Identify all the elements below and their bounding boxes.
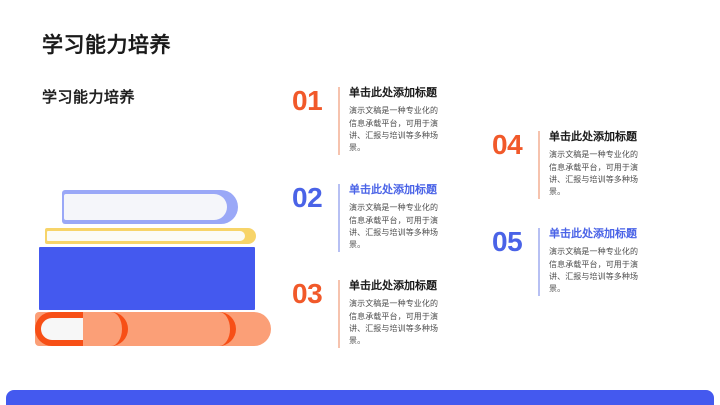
block-title-04: 单击此处添加标题 — [549, 131, 642, 144]
block-title-05: 单击此处添加标题 — [549, 228, 642, 241]
block-body-05: 演示文稿是一种专业化的信息承载平台，可用于演讲、汇报与培训等多种场景。 — [549, 246, 642, 296]
block-text-03: 单击此处添加标题 演示文稿是一种专业化的信息承载平台，可用于演讲、汇报与培训等多… — [349, 280, 442, 348]
block-divider-03 — [338, 280, 340, 348]
block-title-03: 单击此处添加标题 — [349, 280, 442, 293]
block-body-03: 演示文稿是一种专业化的信息承载平台，可用于演讲、汇报与培训等多种场景。 — [349, 298, 442, 348]
block-text-04: 单击此处添加标题 演示文稿是一种专业化的信息承载平台，可用于演讲、汇报与培训等多… — [549, 131, 642, 199]
block-number-04: 04 — [492, 131, 538, 159]
yellow-book-pages-icon — [47, 231, 245, 241]
block-body-01: 演示文稿是一种专业化的信息承载平台，可用于演讲、汇报与培训等多种场景。 — [349, 105, 442, 155]
block-number-02: 02 — [292, 184, 338, 212]
content-block-03[interactable]: 03 单击此处添加标题 演示文稿是一种专业化的信息承载平台，可用于演讲、汇报与培… — [292, 280, 442, 348]
block-text-02: 单击此处添加标题 演示文稿是一种专业化的信息承载平台，可用于演讲、汇报与培训等多… — [349, 184, 442, 252]
block-number-03: 03 — [292, 280, 338, 308]
block-divider-05 — [538, 228, 540, 296]
block-divider-02 — [338, 184, 340, 252]
content-block-05[interactable]: 05 单击此处添加标题 演示文稿是一种专业化的信息承载平台，可用于演讲、汇报与培… — [492, 228, 642, 296]
block-number-01: 01 — [292, 87, 338, 115]
page-title: 学习能力培养 — [42, 29, 171, 59]
bottom-accent-bar — [6, 390, 714, 405]
block-divider-04 — [538, 131, 540, 199]
page-subtitle: 学习能力培养 — [42, 86, 135, 107]
block-body-04: 演示文稿是一种专业化的信息承载平台，可用于演讲、汇报与培训等多种场景。 — [549, 149, 642, 199]
block-text-05: 单击此处添加标题 演示文稿是一种专业化的信息承载平台，可用于演讲、汇报与培训等多… — [549, 228, 642, 296]
block-number-05: 05 — [492, 228, 538, 256]
book-stack-illustration — [26, 186, 280, 354]
content-block-02[interactable]: 02 单击此处添加标题 演示文稿是一种专业化的信息承载平台，可用于演讲、汇报与培… — [292, 184, 442, 252]
presentation-slide: 学习能力培养 学习能力培养 01 单击此处添加标题 演示文稿是一种专业化的信息承… — [0, 0, 720, 405]
content-block-04[interactable]: 04 单击此处添加标题 演示文稿是一种专业化的信息承载平台，可用于演讲、汇报与培… — [492, 131, 642, 199]
blue-book-cover-icon — [39, 247, 255, 310]
top-book-pages-icon — [64, 194, 227, 220]
bottom-book-spine-icon — [35, 312, 83, 346]
block-title-02: 单击此处添加标题 — [349, 184, 442, 197]
block-body-02: 演示文稿是一种专业化的信息承载平台，可用于演讲、汇报与培训等多种场景。 — [349, 202, 442, 252]
block-text-01: 单击此处添加标题 演示文稿是一种专业化的信息承载平台，可用于演讲、汇报与培训等多… — [349, 87, 442, 155]
block-title-01: 单击此处添加标题 — [349, 87, 442, 100]
block-divider-01 — [338, 87, 340, 155]
content-block-01[interactable]: 01 单击此处添加标题 演示文稿是一种专业化的信息承载平台，可用于演讲、汇报与培… — [292, 87, 442, 155]
